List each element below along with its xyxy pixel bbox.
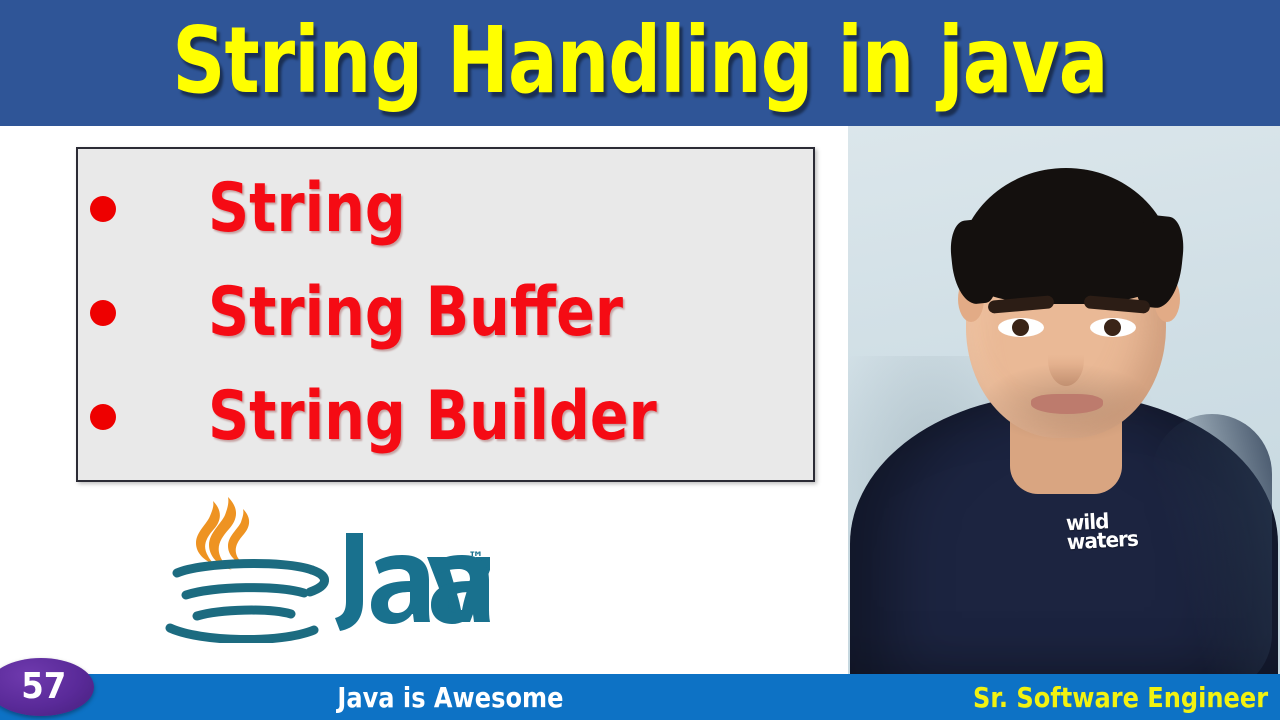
presenter-eye-right (1090, 318, 1136, 337)
shirt-print-logo: wild waters (1065, 508, 1196, 553)
java-logo-icon: ™ (150, 495, 490, 643)
footer-right-text: Sr. Software Engineer (925, 674, 1268, 720)
list-item-label: String Buffer (208, 279, 623, 347)
list-item-label: String (208, 175, 406, 243)
presenter-eye-left (998, 318, 1044, 337)
presenter-video-panel: wild waters (848, 126, 1280, 674)
presentation-slide: String Handling in java String String Bu… (0, 0, 1280, 720)
list-item: String Builder (78, 365, 813, 469)
list-item: String Buffer (78, 261, 813, 365)
list-item-label: String Builder (208, 383, 657, 451)
bullet-dot-icon (90, 196, 116, 222)
slide-title: String Handling in java (128, 0, 1152, 126)
topic-list-box: String String Buffer String Builder (76, 147, 815, 482)
bullet-dot-icon (90, 404, 116, 430)
presenter-mouth (1031, 394, 1103, 414)
list-item: String (78, 157, 813, 261)
bullet-dot-icon (90, 300, 116, 326)
footer-center-text: Java is Awesome (250, 674, 650, 720)
slide-number-value: 57 (16, 669, 66, 705)
slide-title-band: String Handling in java (0, 0, 1280, 126)
trademark-mark: ™ (468, 548, 484, 567)
